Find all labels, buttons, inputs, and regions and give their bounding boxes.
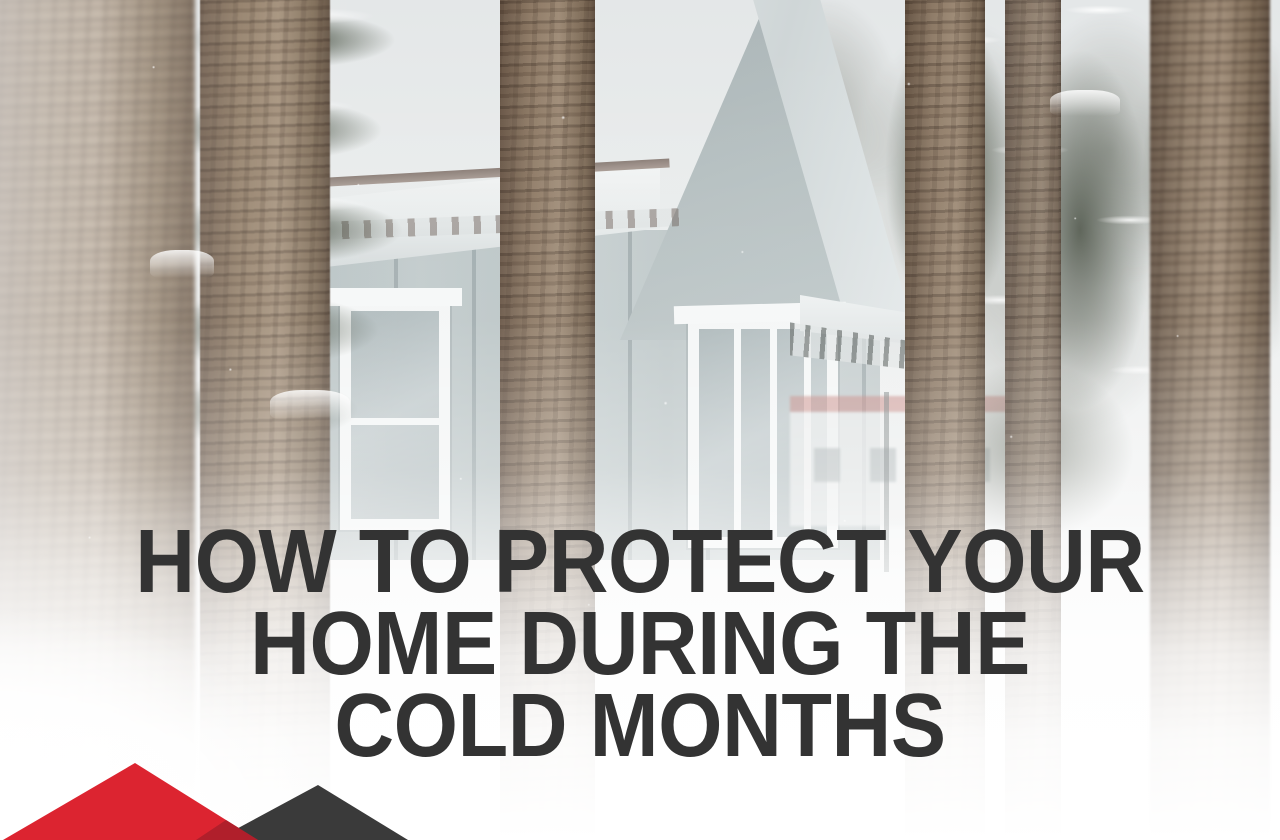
title-line-1: HOW TO PROTECT YOUR [77, 521, 1203, 603]
page-title: HOW TO PROTECT YOUR HOME DURING THE COLD… [0, 521, 1280, 767]
title-line-2: HOME DURING THE [77, 603, 1203, 685]
winter-blog-header-poster: HOW TO PROTECT YOUR HOME DURING THE COLD… [0, 0, 1280, 840]
charcoal-peak-icon [216, 785, 408, 840]
twin-mountain-logo[interactable] [0, 750, 430, 840]
